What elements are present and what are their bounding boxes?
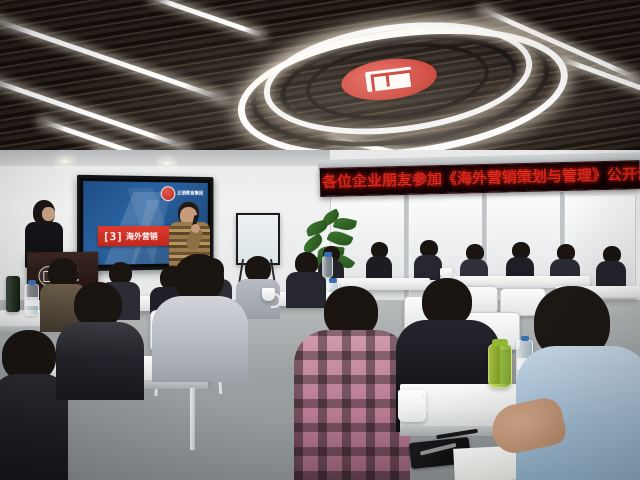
- ring-shadow: [275, 22, 523, 144]
- attendee-head: [422, 278, 472, 326]
- ceiling-logo-icon: [339, 54, 439, 105]
- slide-badge-text: 海外营销: [126, 231, 158, 240]
- water-bottle: [322, 256, 333, 278]
- attendee-body: [596, 261, 626, 288]
- table-leg: [190, 388, 195, 450]
- attendee-foreground: [294, 286, 410, 480]
- led-strip: [0, 74, 189, 150]
- slide-logo-icon: [161, 186, 176, 201]
- green-water-bottle: [488, 344, 512, 388]
- ring-light-outer: [230, 10, 575, 172]
- attendee-body: [414, 255, 442, 280]
- bottle-cap: [324, 252, 332, 257]
- attendee-body: [152, 296, 248, 382]
- downlight-icon: [160, 160, 174, 167]
- plant-leaf: [333, 216, 357, 233]
- water-bottle: [24, 284, 39, 316]
- bottle-cap: [28, 280, 36, 285]
- attendee-body: [56, 322, 144, 400]
- slide-corner-logo: 正朋教育集团: [161, 186, 203, 201]
- attendee-head: [174, 254, 224, 302]
- slide-badge-bracket: [3]: [103, 231, 123, 242]
- led-strip: [479, 6, 640, 82]
- ring-shadow: [302, 33, 494, 129]
- logo-mark: [365, 67, 413, 92]
- classroom-photo: 各位企业朋友参加《海外营销策划与管理》公开课 正朋教育集团 [3] 海外营销: [0, 0, 640, 480]
- led-strip: [559, 56, 640, 102]
- speaker-hand: [191, 224, 200, 233]
- attendee: [506, 242, 534, 280]
- attendee-body: [366, 256, 392, 280]
- bottle-label: [25, 297, 38, 306]
- attendee: [366, 242, 392, 278]
- slide-logo-text: 正朋教育集团: [177, 191, 203, 196]
- attendee-foreground: [56, 282, 144, 392]
- ring-light-inner: [257, 8, 538, 148]
- green-thermos: [6, 276, 20, 312]
- attendee-body: [294, 330, 410, 480]
- attendee-foreground: [512, 286, 640, 480]
- bottle-cap: [329, 278, 337, 283]
- led-strip: [149, 0, 264, 38]
- led-strip: [0, 16, 227, 102]
- attendee-foreground: [152, 254, 248, 374]
- host-face: [42, 207, 55, 221]
- slide-title-badge: [3] 海外营销: [98, 226, 179, 246]
- spiral-ring-light: [229, 2, 572, 169]
- banner-text: 各位企业朋友参加《海外营销策划与管理》公开课: [322, 164, 640, 193]
- white-mug: [262, 288, 275, 301]
- white-mug: [398, 390, 426, 422]
- downlight-icon: [58, 158, 72, 165]
- ring-shadow: [244, 10, 556, 162]
- attendee: [414, 240, 442, 278]
- wood-slat-ceiling: [0, 0, 640, 172]
- bottle-cap: [492, 339, 508, 346]
- attendee: [596, 246, 626, 286]
